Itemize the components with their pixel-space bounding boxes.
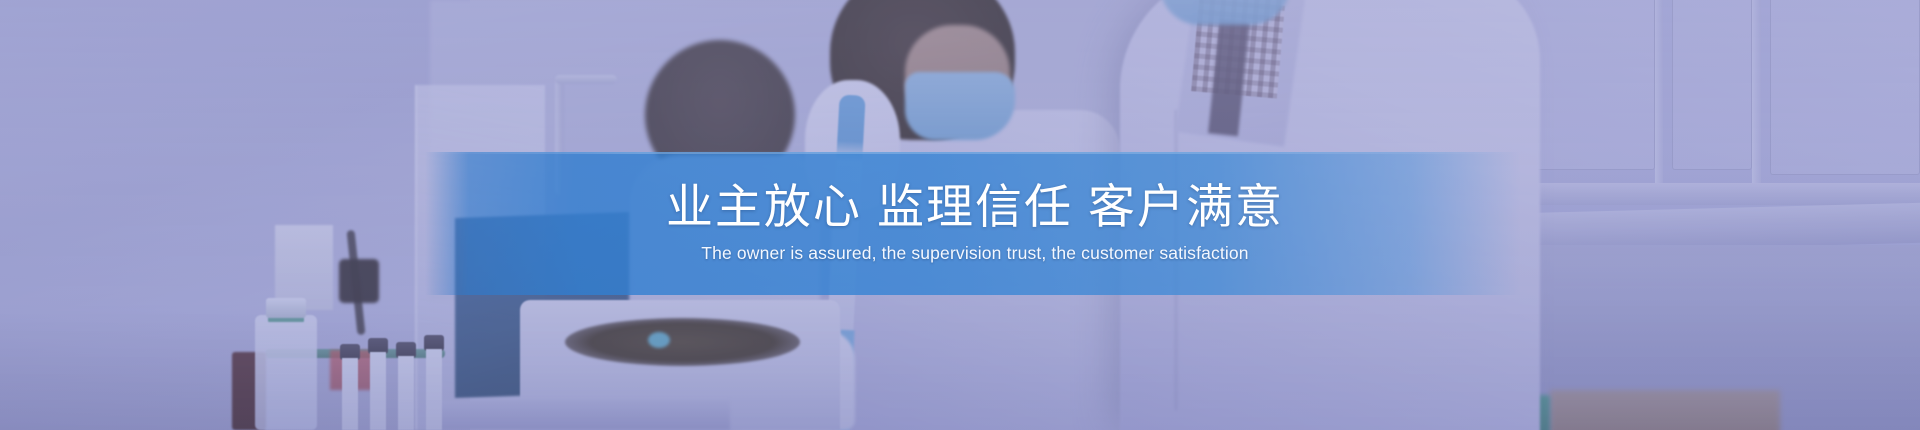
banner-subheadline: The owner is assured, the supervision tr… (701, 243, 1248, 264)
hero-banner: 业主放心 监理信任 客户满意 The owner is assured, the… (0, 0, 1920, 430)
banner-copy: 业主放心 监理信任 客户满意 The owner is assured, the… (0, 152, 1920, 295)
banner-headline: 业主放心 监理信任 客户满意 (666, 183, 1284, 231)
